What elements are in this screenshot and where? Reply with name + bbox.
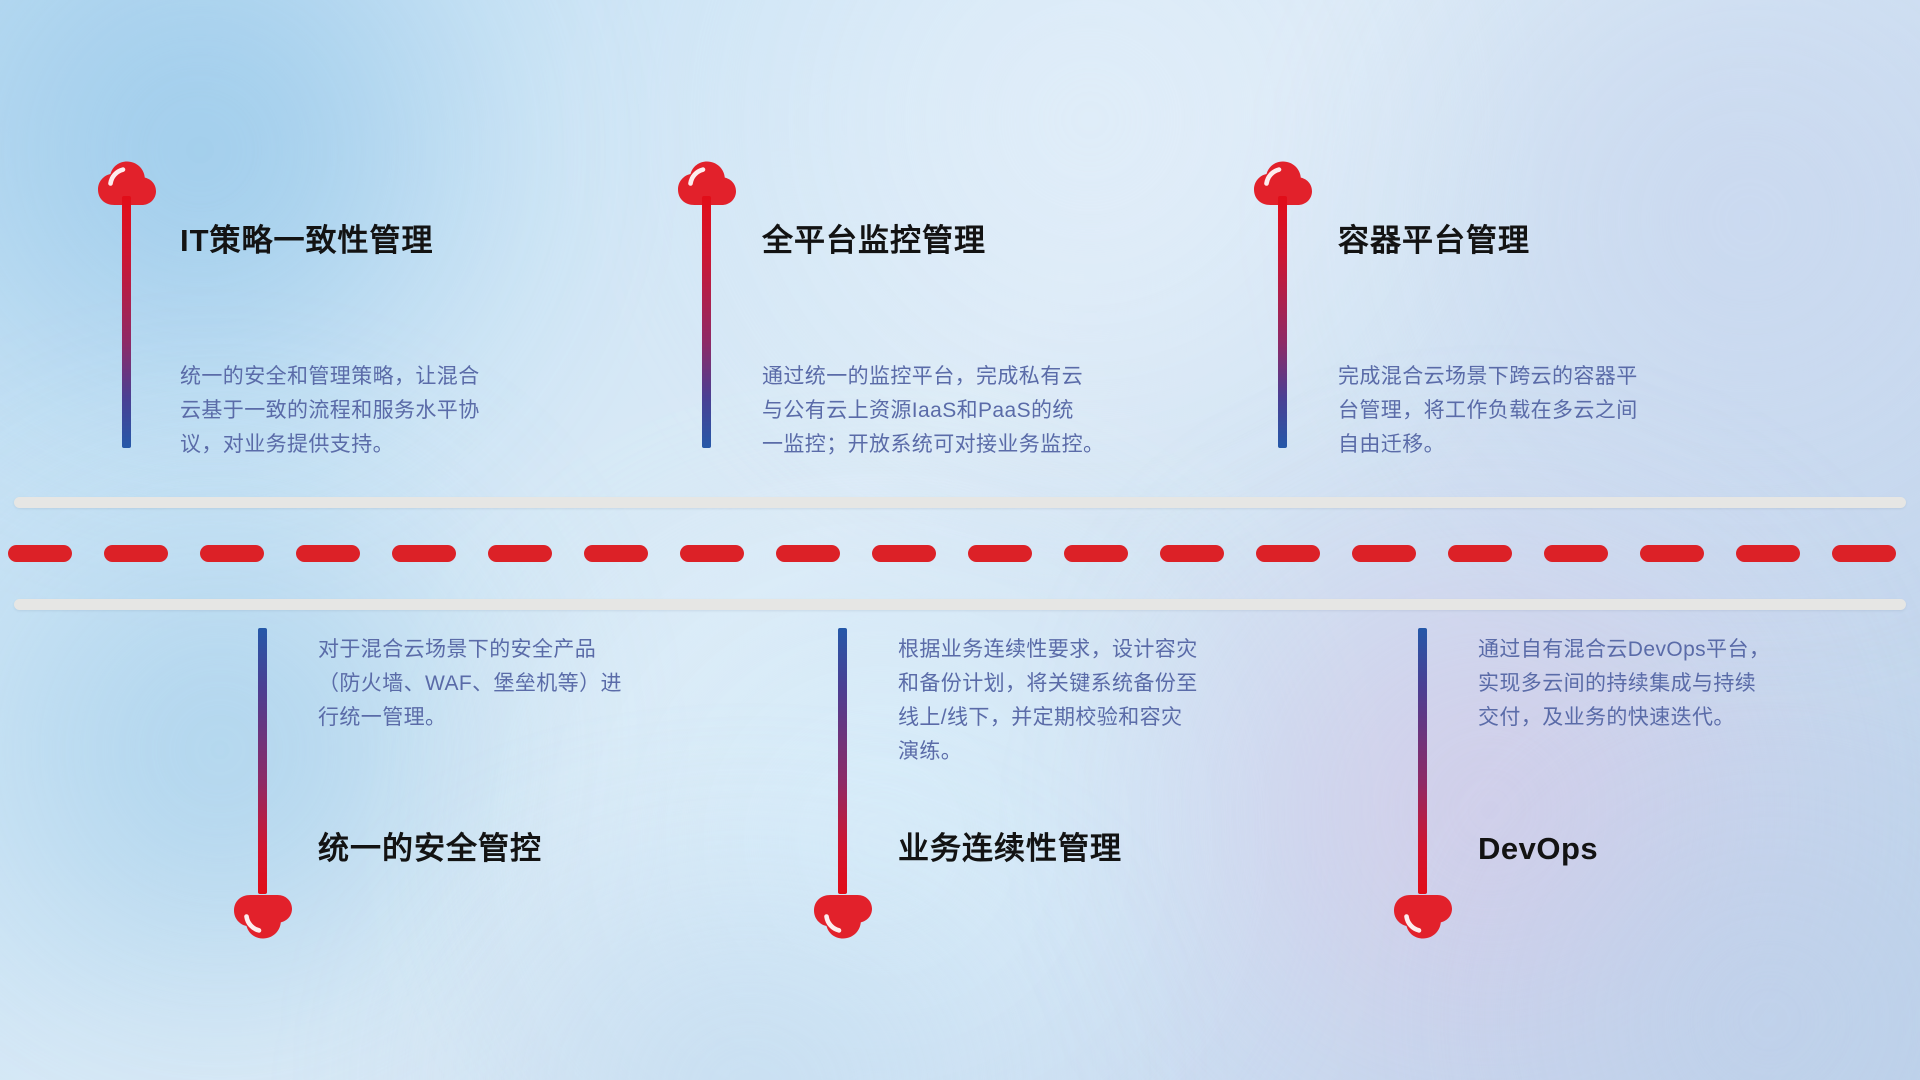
- road-dash-marker: [1832, 545, 1896, 562]
- road-dash-marker: [392, 545, 456, 562]
- bottom-title-2: 业务连续性管理: [898, 833, 1122, 864]
- road-dash-marker: [488, 545, 552, 562]
- top-title-3: 容器平台管理: [1338, 225, 1530, 256]
- road-dash-marker: [1736, 545, 1800, 562]
- top-title-1: IT策略一致性管理: [180, 225, 434, 256]
- bottom-body-1: 对于混合云场景下的安全产品 （防火墙、WAF、堡垒机等）进 行统一管理。: [318, 633, 748, 735]
- pin-stem: [258, 628, 267, 894]
- road-dash-marker: [104, 545, 168, 562]
- pin-stem: [1278, 196, 1287, 448]
- road-dash-marker: [584, 545, 648, 562]
- cloud-pin-icon: [1392, 894, 1454, 940]
- road-dash-marker: [680, 545, 744, 562]
- road-dash-marker: [1544, 545, 1608, 562]
- road-edge-line-bottom: [14, 599, 1906, 610]
- top-body-1: 统一的安全和管理策略，让混合 云基于一致的流程和服务水平协 议，对业务提供支持。: [180, 360, 610, 462]
- infographic-canvas: IT策略一致性管理 统一的安全和管理策略，让混合 云基于一致的流程和服务水平协 …: [0, 0, 1920, 1080]
- road-dash-marker: [1064, 545, 1128, 562]
- bottom-title-3: DevOps: [1478, 833, 1598, 864]
- pin-stem: [702, 196, 711, 448]
- road-dash-marker: [1640, 545, 1704, 562]
- cloud-pin-icon: [232, 894, 294, 940]
- cloud-pin-icon: [812, 894, 874, 940]
- top-body-3: 完成混合云场景下跨云的容器平 台管理，将工作负载在多云之间 自由迁移。: [1338, 360, 1788, 462]
- road-dash-marker: [776, 545, 840, 562]
- road-dash-marker: [1160, 545, 1224, 562]
- road-dash-marker: [200, 545, 264, 562]
- pin-stem: [1418, 628, 1427, 894]
- road-edge-line-top: [14, 497, 1906, 508]
- top-body-2: 通过统一的监控平台，完成私有云 与公有云上资源IaaS和PaaS的统 一监控；开…: [762, 360, 1232, 462]
- road-dash-marker: [1256, 545, 1320, 562]
- pin-stem: [838, 628, 847, 894]
- bottom-body-2: 根据业务连续性要求，设计容灾 和备份计划，将关键系统备份至 线上/线下，并定期校…: [898, 633, 1328, 769]
- road-dash-marker: [8, 545, 72, 562]
- bottom-title-1: 统一的安全管控: [318, 833, 542, 864]
- road-dash-marker: [872, 545, 936, 562]
- road-dash-marker: [1448, 545, 1512, 562]
- top-title-2: 全平台监控管理: [762, 225, 986, 256]
- road-dash-marker: [968, 545, 1032, 562]
- road-dash-marker: [1352, 545, 1416, 562]
- bottom-body-3: 通过自有混合云DevOps平台， 实现多云间的持续集成与持续 交付，及业务的快速…: [1478, 633, 1898, 735]
- pin-stem: [122, 196, 131, 448]
- road-dashed-centerline: [0, 545, 1920, 562]
- road-dash-marker: [296, 545, 360, 562]
